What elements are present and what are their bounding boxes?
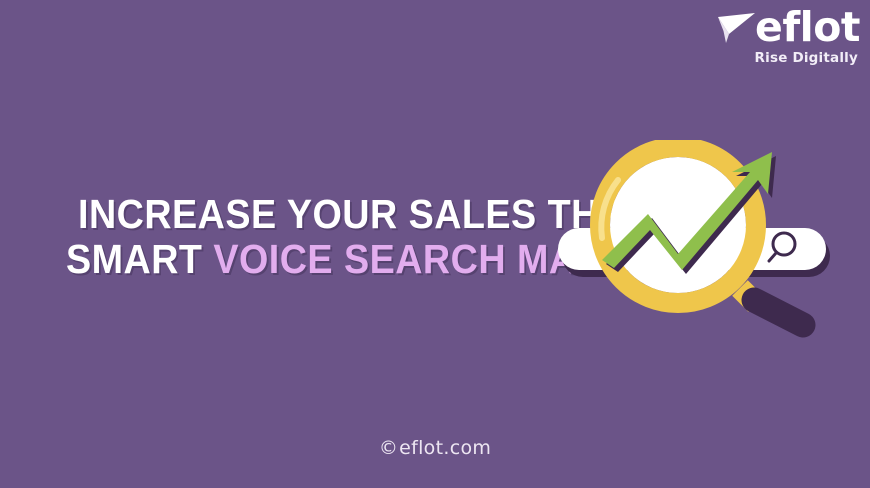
headline-line-1: INCREASE YOUR SALES THROUGH: [78, 192, 527, 237]
headline-line-2: SMART VOICE SEARCH MARKETING: [66, 237, 526, 282]
brand-logo: eflot Rise Digitally: [680, 6, 860, 70]
paper-plane-icon: [715, 10, 757, 44]
logo-row: eflot: [715, 6, 860, 48]
voice-search-growth-illustration: [540, 140, 840, 340]
logo-wordmark: eflot: [755, 6, 860, 48]
watermark-text: eflot.com: [399, 437, 491, 459]
logo-tagline: Rise Digitally: [755, 50, 858, 66]
headline-word-smart: SMART: [66, 236, 202, 282]
watermark: ©eflot.com: [0, 437, 870, 459]
page-title: INCREASE YOUR SALES THROUGH SMART VOICE …: [66, 192, 566, 282]
copyright-icon: ©: [379, 439, 398, 458]
magnifier-handle: [740, 288, 803, 325]
banner-canvas: eflot Rise Digitally INCREASE YOUR SALES…: [0, 0, 870, 488]
